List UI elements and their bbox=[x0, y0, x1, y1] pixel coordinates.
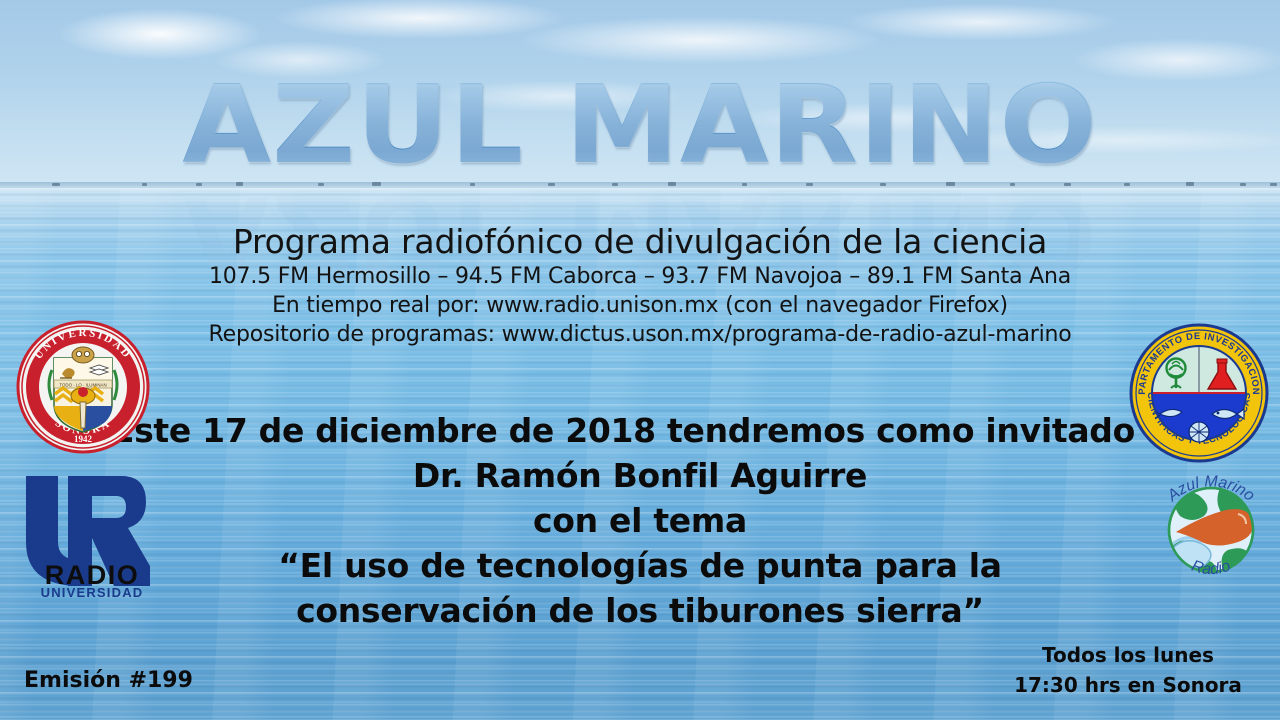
program-subtitle: Programa radiofónico de divulgación de l… bbox=[0, 222, 1280, 262]
emission-number: Emisión #199 bbox=[24, 668, 193, 693]
azul-marino-radio-logo: Azul Marino Radio bbox=[1146, 458, 1276, 598]
unison-motto: TODO · LO · ILUMINAN bbox=[59, 382, 106, 387]
topic-intro: con el tema bbox=[0, 498, 1280, 543]
live-stream-line: En tiempo real por: www.radio.unison.mx … bbox=[0, 291, 1280, 320]
announcement-date-line: Este 17 de diciembre de 2018 tendremos c… bbox=[0, 408, 1280, 453]
poster-title-text: AZUL MARINO bbox=[0, 72, 1280, 180]
announcement-block: Este 17 de diciembre de 2018 tendremos c… bbox=[0, 408, 1280, 633]
schedule-block: Todos los lunes 17:30 hrs en Sonora bbox=[998, 640, 1258, 700]
topic-line-1: “El uso de tecnologías de punta para la bbox=[0, 543, 1280, 588]
header-block: Programa radiofónico de divulgación de l… bbox=[0, 222, 1280, 349]
azul-marino-poster: AZUL MARINO AZUL MARINO Programa radiofó… bbox=[0, 0, 1280, 720]
poster-title: AZUL MARINO bbox=[0, 72, 1280, 180]
radio-universidad-label-bottom: UNIVERSIDAD bbox=[41, 585, 144, 600]
topic-line-2: conservación de los tiburones sierra” bbox=[0, 588, 1280, 633]
schedule-time: 17:30 hrs en Sonora bbox=[998, 670, 1258, 700]
guest-name: Dr. Ramón Bonfil Aguirre bbox=[0, 453, 1280, 498]
radio-universidad-logo: RADIO UNIVERSIDAD bbox=[18, 468, 166, 598]
repository-line: Repositorio de programas: www.dictus.uso… bbox=[0, 320, 1280, 349]
schedule-day: Todos los lunes bbox=[998, 640, 1258, 670]
unison-seal-logo: UNIVERSIDAD SONORA TODO · LO · ILUMINAN bbox=[8, 312, 158, 462]
frequencies-line: 107.5 FM Hermosillo – 94.5 FM Caborca – … bbox=[0, 262, 1280, 291]
dictus-seal-logo: DEPARTAMENTO DE INVESTIGACIONES CIENTÍFI… bbox=[1128, 322, 1270, 464]
unison-year: 1942 bbox=[74, 434, 93, 444]
